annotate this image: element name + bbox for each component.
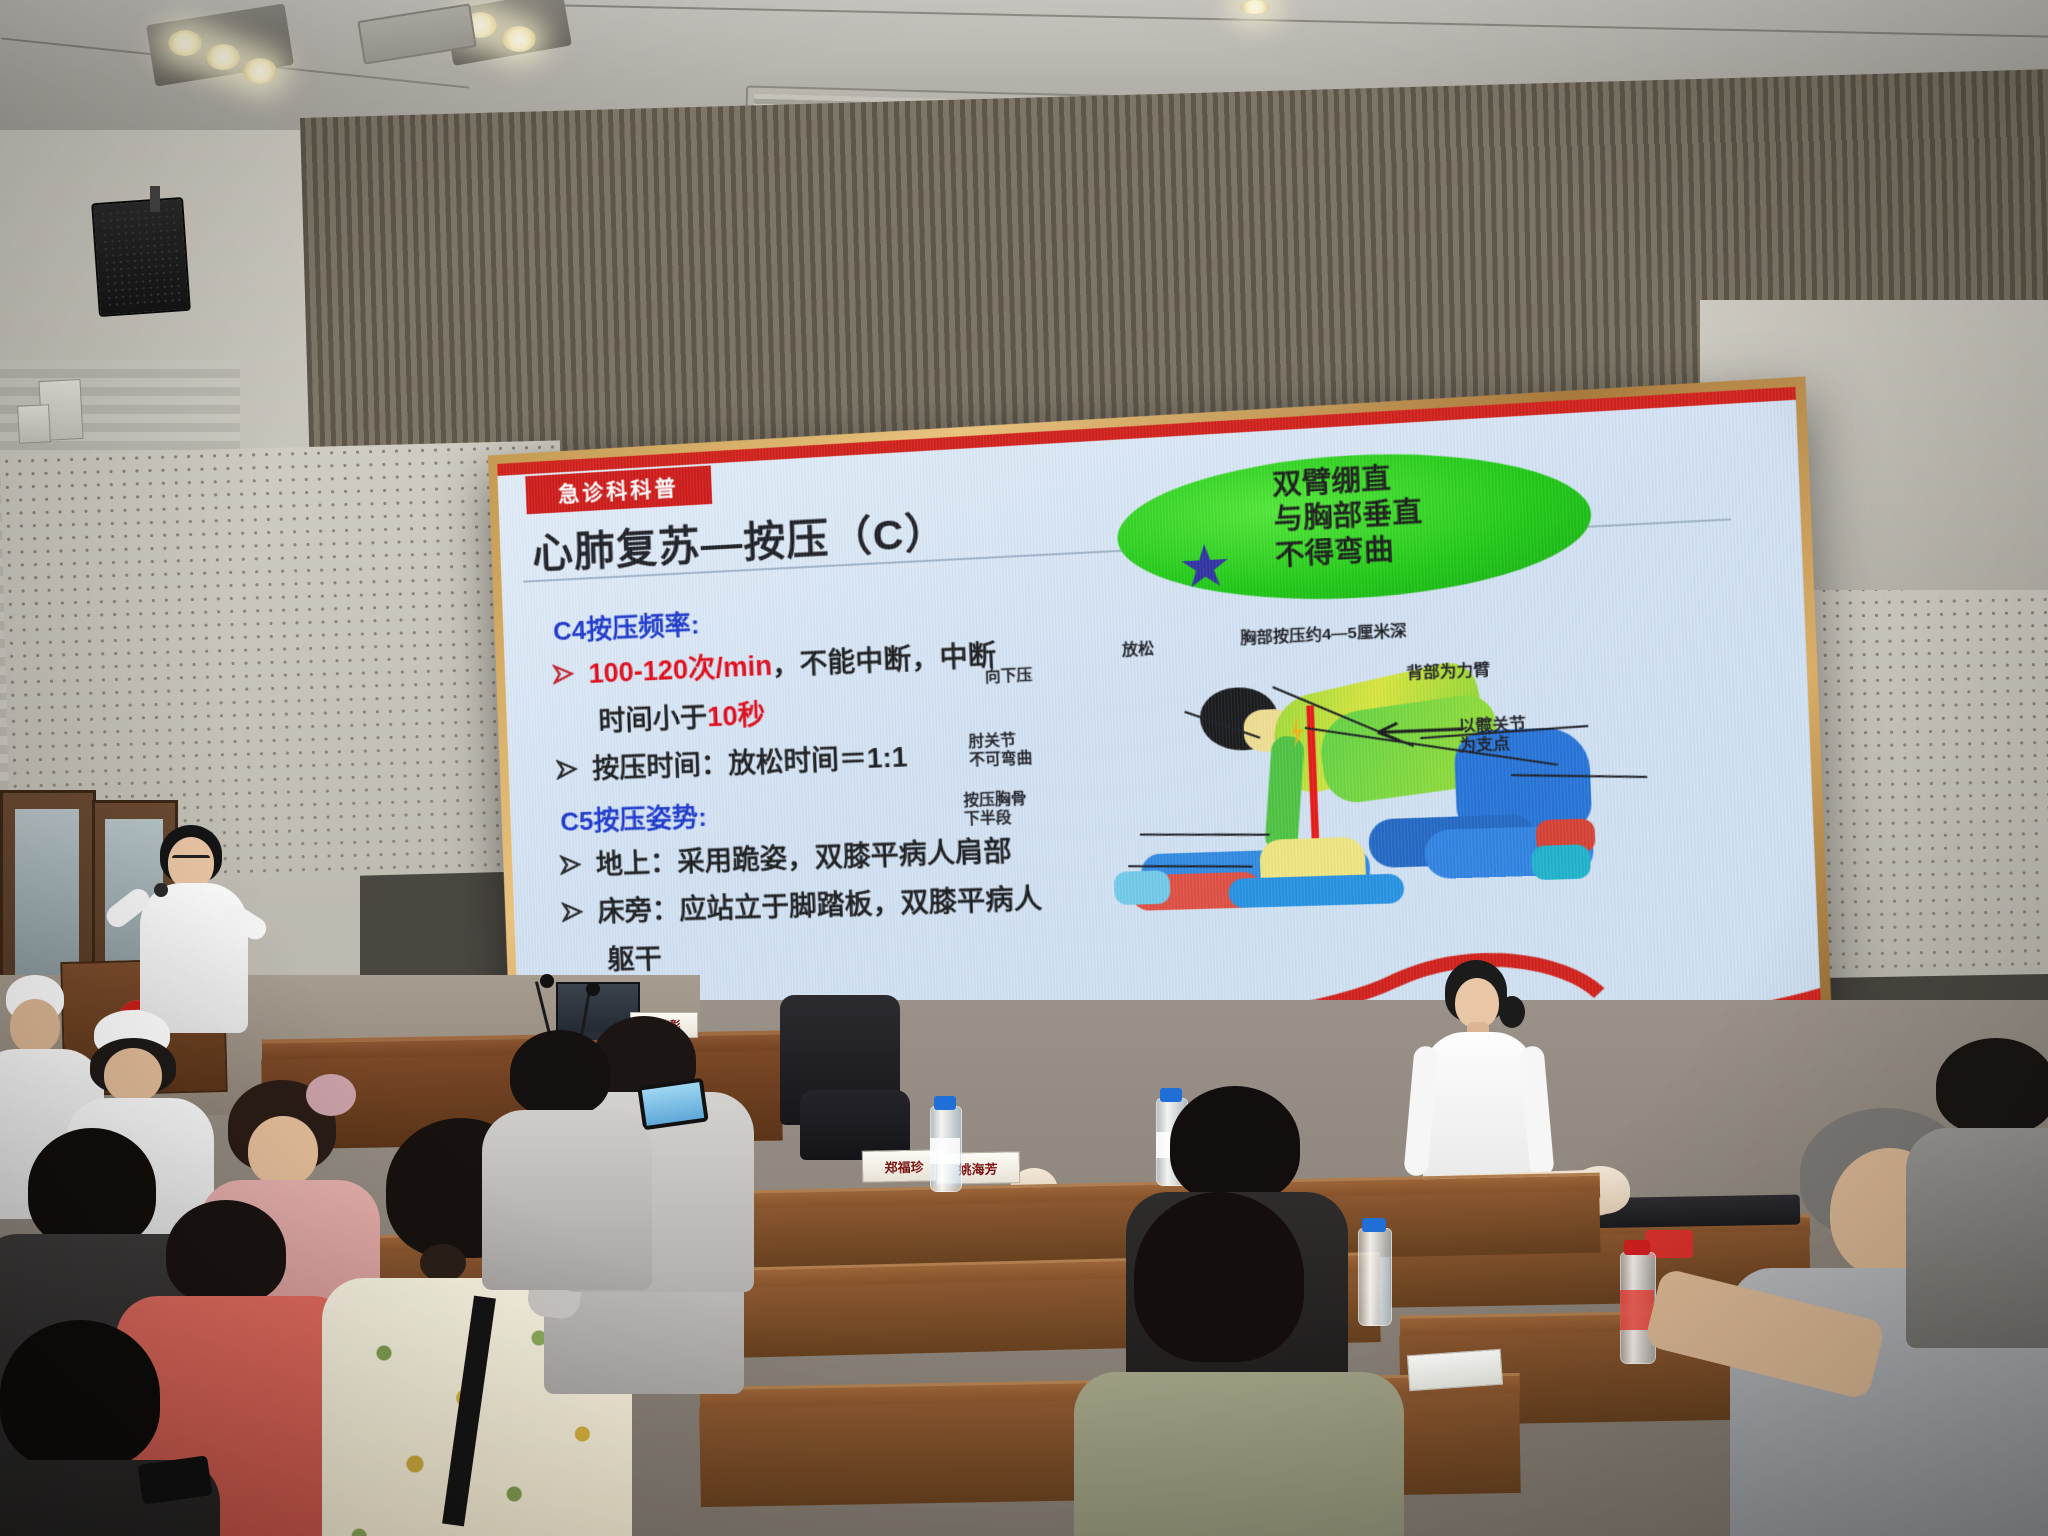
- bullet-text: 100-120次/min，不能中断，中断: [588, 638, 997, 692]
- leader-line: [1128, 865, 1252, 867]
- head: [1455, 978, 1499, 1028]
- bottle-cap: [1624, 1240, 1650, 1255]
- annotation-press-down: 向下压: [985, 666, 1033, 687]
- glasses-icon: [172, 855, 210, 868]
- rescuer-shoe: [1531, 844, 1591, 880]
- slide-tag-badge: 急诊科科普: [525, 465, 712, 514]
- bullet-emphasis: 100-120次/min: [588, 650, 773, 689]
- hair: [0, 1320, 160, 1470]
- head: [104, 1048, 162, 1102]
- annotation-sternum: 按压胸骨 下半段: [963, 790, 1028, 829]
- hair: [1936, 1038, 2048, 1134]
- ceiling-light: [243, 58, 277, 84]
- hair: [166, 1200, 286, 1304]
- bottle-cap: [1160, 1088, 1182, 1102]
- hair: [28, 1128, 156, 1248]
- arrow-bullet-icon: [560, 854, 583, 875]
- ceiling-light: [206, 44, 240, 70]
- head: [10, 999, 60, 1053]
- hair: [510, 1030, 610, 1116]
- bullet-rest: ，不能中断，中断: [772, 640, 997, 681]
- cont-text: 时间小于: [598, 702, 708, 737]
- star-icon: ★: [1177, 536, 1234, 597]
- victim-lower-body: [1228, 873, 1405, 908]
- annotation-hip-fulcrum: 以髋关节 为支点: [1458, 715, 1527, 756]
- annotation-release: 放松: [1122, 640, 1155, 660]
- cont-emphasis: 10秒: [707, 699, 766, 732]
- microphone: [154, 883, 168, 897]
- door-glass: [15, 809, 79, 979]
- speaker-mount: [150, 186, 160, 212]
- ceiling-light: [1240, 0, 1270, 14]
- bottle-cap: [1362, 1218, 1386, 1232]
- speaker-grille: [100, 205, 183, 308]
- hair-ponytail: [1499, 996, 1525, 1028]
- arrow-bullet-icon: [552, 664, 575, 685]
- hair-scrunchie: [306, 1074, 356, 1116]
- bullet-text: 地上：采用跪姿，双膝平病人肩部: [595, 833, 1012, 882]
- torso: [1906, 1128, 2048, 1348]
- arrow-bullet-icon: [556, 759, 579, 780]
- victim-foot: [1114, 870, 1171, 905]
- screenshot-root: 急诊科科普 心肺复苏—按压（C） C4按压频率: 100-120次/min，不能…: [0, 0, 2048, 1536]
- hair-clip: [420, 1244, 466, 1282]
- loudspeaker: [91, 197, 191, 317]
- leader-line: [1140, 834, 1270, 836]
- torso: [482, 1110, 652, 1290]
- arrow-head-icon: [1364, 714, 1465, 750]
- hair: [1170, 1086, 1300, 1202]
- microphone-head: [586, 982, 600, 996]
- bullet-text: 按压时间：放松时间＝1:1: [592, 740, 908, 787]
- head: [248, 1116, 318, 1186]
- ceiling-light: [502, 26, 536, 52]
- hair: [1134, 1192, 1304, 1362]
- microphone-head: [540, 974, 554, 988]
- bottle-label: [930, 1138, 960, 1164]
- annotation-back-lever: 背部为力臂: [1406, 661, 1490, 684]
- bullet-text: 床旁：应站立于脚踏板，双膝平病人: [597, 882, 1043, 930]
- bottle-cap: [934, 1096, 956, 1110]
- arrow-bullet-icon: [561, 902, 584, 923]
- phone-screen: [642, 1082, 704, 1126]
- callout-line: 不得弯曲: [1274, 531, 1424, 574]
- ceiling-light: [168, 30, 202, 56]
- annotation-elbow-straight: 肘关节 不可弯曲: [968, 731, 1033, 771]
- callout-oval-text: 双臂绷直 与胸部垂直 不得弯曲: [1272, 460, 1425, 574]
- water-bottle: [1358, 1228, 1392, 1326]
- rescuer-arm: [1264, 735, 1305, 853]
- handout-paper: [1407, 1349, 1503, 1391]
- slide-tag-label: 急诊科科普: [558, 471, 679, 508]
- smartphone[interactable]: [637, 1078, 708, 1131]
- wall-sign: [17, 404, 51, 444]
- torso: [1074, 1372, 1404, 1536]
